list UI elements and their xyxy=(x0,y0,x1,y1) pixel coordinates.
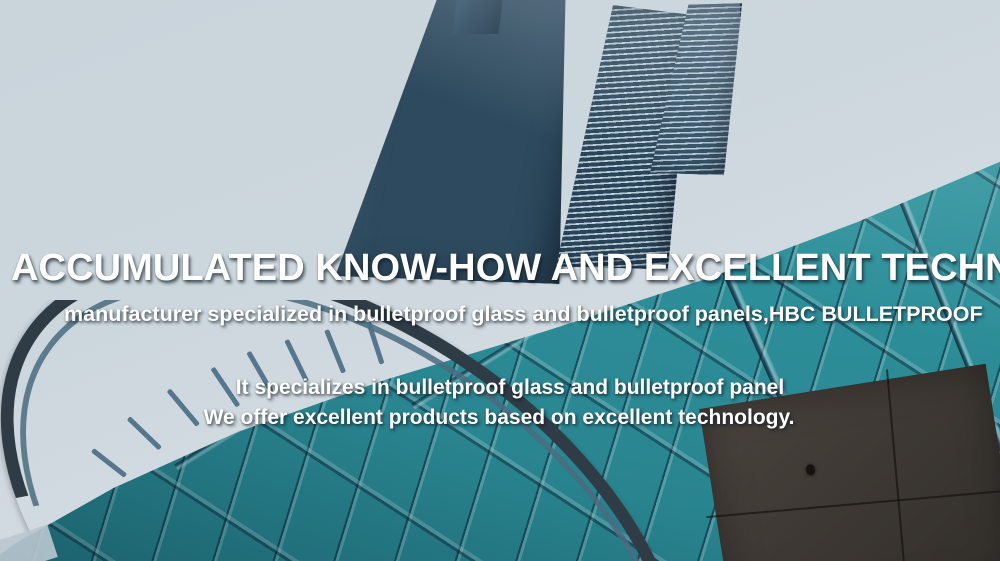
banner-headline: ACCUMULATED KNOW-HOW AND EXCELLENT TECHN… xyxy=(11,247,1000,289)
banner-tagline-line-2: We offer excellent products based on exc… xyxy=(0,403,999,433)
banner-tagline-line-1: It specializes in bulletproof glass and … xyxy=(10,373,1000,403)
banner-subheadline: manufacturer specialized in bulletproof … xyxy=(64,301,983,327)
hero-banner: ACCUMULATED KNOW-HOW AND EXCELLENT TECHN… xyxy=(0,0,1000,561)
banner-copy: ACCUMULATED KNOW-HOW AND EXCELLENT TECHN… xyxy=(0,0,1000,561)
banner-tagline: It specializes in bulletproof glass and … xyxy=(0,373,1000,433)
